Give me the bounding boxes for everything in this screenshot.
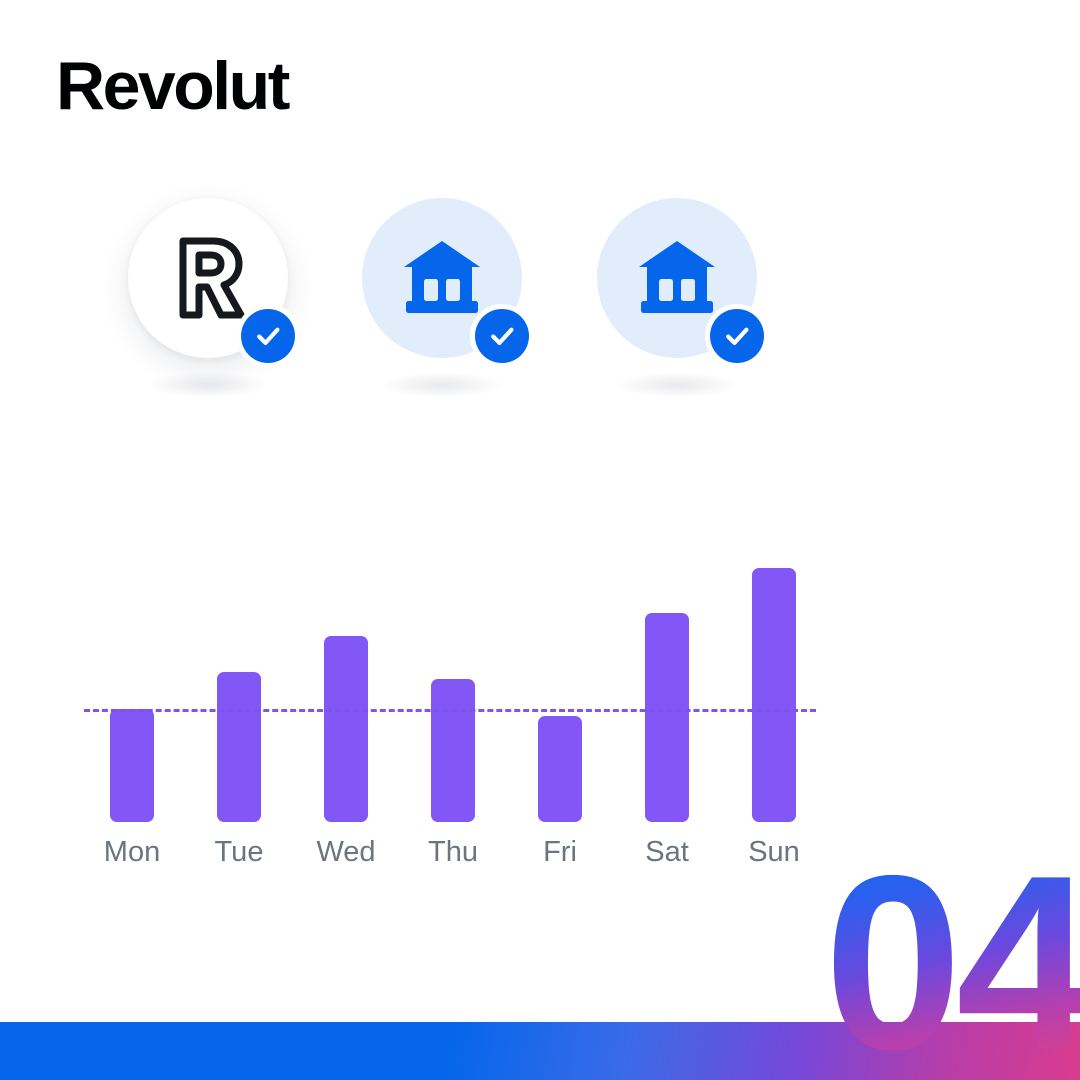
chart-bar[interactable]: [324, 636, 368, 822]
badge-shadow: [615, 372, 739, 398]
account-badge-revolut[interactable]: [128, 198, 288, 358]
chart-x-label: Sun: [714, 836, 834, 869]
bank-icon: [400, 239, 484, 317]
chart-x-label: Tue: [179, 836, 299, 869]
chart-bar[interactable]: [431, 679, 475, 822]
chart-x-label: Thu: [393, 836, 513, 869]
verified-accounts-row: [0, 198, 1080, 398]
chart-bar[interactable]: [110, 709, 154, 822]
account-badge-bank-1[interactable]: [362, 198, 522, 358]
check-circle: [710, 309, 764, 363]
check-circle: [241, 309, 295, 363]
chart-bar[interactable]: [217, 672, 261, 822]
chart-bar[interactable]: [538, 716, 582, 822]
chart-x-label: Mon: [72, 836, 192, 869]
badge-shadow: [146, 372, 270, 398]
verified-check-badge: [470, 304, 534, 368]
chart-x-label: Fri: [500, 836, 620, 869]
brand-wordmark: Revolut: [56, 52, 288, 120]
verified-check-badge: [705, 304, 769, 368]
check-circle: [475, 309, 529, 363]
check-icon: [722, 321, 752, 351]
chart-bar[interactable]: [645, 613, 689, 822]
chart-bar[interactable]: [752, 568, 796, 822]
check-icon: [253, 321, 283, 351]
bank-icon: [635, 239, 719, 317]
chart-plot-area: [0, 540, 1080, 822]
account-badge-bank-2[interactable]: [597, 198, 757, 358]
check-icon: [487, 321, 517, 351]
verified-check-badge: [236, 304, 300, 368]
slide-number: 04: [824, 838, 1080, 1080]
chart-x-label: Sat: [607, 836, 727, 869]
revolut-r-icon: [169, 235, 247, 321]
chart-x-label: Wed: [286, 836, 406, 869]
slide-canvas: Revolut: [0, 0, 1080, 1080]
badge-shadow: [380, 372, 504, 398]
